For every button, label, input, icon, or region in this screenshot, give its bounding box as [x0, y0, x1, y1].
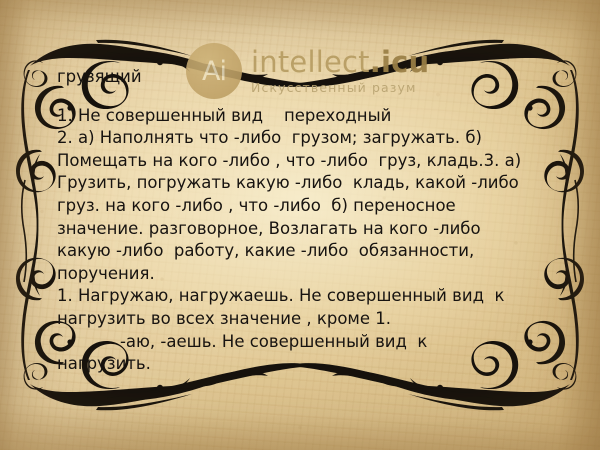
definition-line: Помещать на кого -либо , что -либо груз,… — [57, 150, 549, 173]
definition-line: 1. Не совершенный вид переходный — [57, 105, 549, 128]
definition-line: нагрузить во всех значение , кроме 1. — [57, 308, 549, 331]
entry-headword: грузящий — [57, 67, 549, 88]
definition-line: нагрузить. — [57, 353, 549, 376]
definition-line: груз. на кого -либо , что -либо б) перен… — [57, 195, 549, 218]
parchment-page: Ai intellect.icu Искусственный разум гру… — [0, 0, 600, 450]
dictionary-entry: грузящий 1. Не совершенный вид переходны… — [57, 67, 549, 376]
frame-rule-left — [22, 180, 26, 282]
entry-definitions: 1. Не совершенный вид переходный 2. а) Н… — [57, 105, 549, 376]
definition-line: 2. а) Наполнять что -либо грузом; загруж… — [57, 127, 549, 150]
definition-line: -аю, -аешь. Не совершенный вид к — [57, 331, 549, 354]
definition-line: Грузить, погружать какую -либо кладь, ка… — [57, 172, 549, 195]
definition-line: какую -либо работу, какие -либо обязанно… — [57, 240, 549, 263]
definition-line: поручения. — [57, 263, 549, 286]
definition-line: значение. разговорное, Возлагать на кого… — [57, 218, 549, 241]
frame-rule-right — [574, 180, 578, 282]
definition-line: 1. Нагружаю, нагружаешь. Не совершенный … — [57, 285, 549, 308]
